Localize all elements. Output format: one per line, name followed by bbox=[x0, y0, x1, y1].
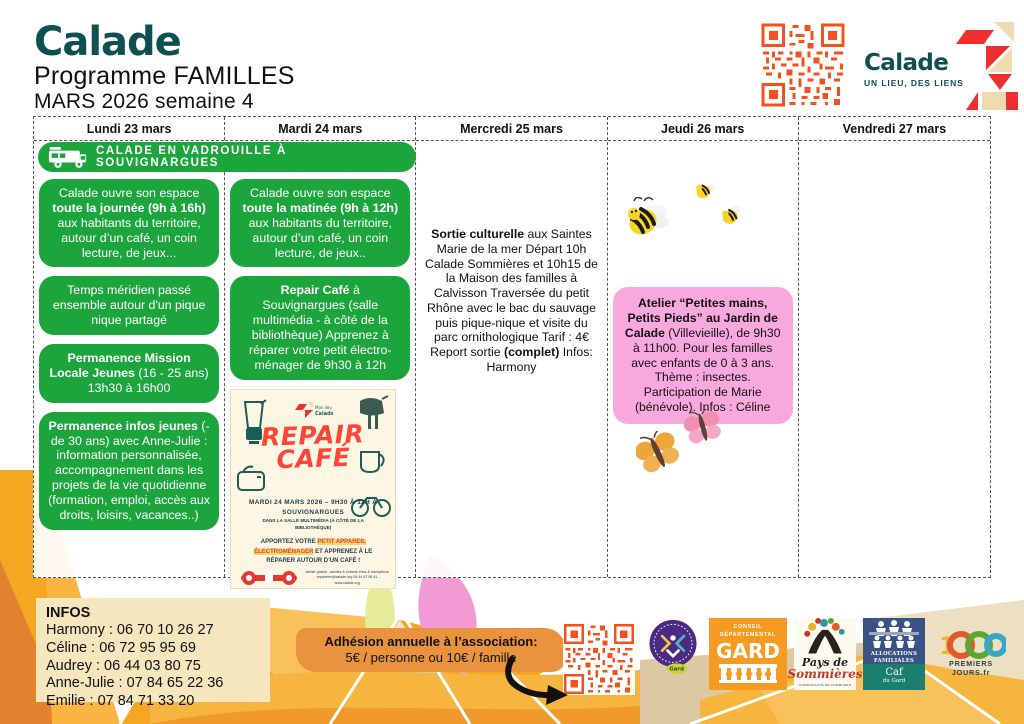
column-jeudi: Jeudi 26 mars bbox=[608, 117, 799, 577]
event-pill[interactable]: Temps méridien passé ensemble autour d'u… bbox=[39, 276, 219, 335]
tangram-mark-icon bbox=[948, 22, 1020, 114]
calade-logo: Calade UN LIEU, DES LIENS bbox=[864, 30, 1014, 108]
event-pill[interactable]: Calade ouvre son espace toute la matinée… bbox=[230, 179, 410, 267]
contact-line: Anne-Julie : 07 84 65 22 36 bbox=[46, 675, 260, 693]
caf-top-label: ALLOCATIONS FAMILIALES bbox=[863, 651, 925, 664]
program-title: Programme FAMILLES bbox=[34, 62, 295, 90]
pill-text: Temps méridien passé ensemble autour d'u… bbox=[53, 283, 206, 327]
column-header-jeudi: Jeudi 26 mars bbox=[608, 117, 798, 141]
camper-van-icon bbox=[48, 145, 88, 169]
event-pill[interactable]: Repair Café à Souvignargues (salle multi… bbox=[230, 276, 410, 379]
poster-when: MARDI 24 MARS 2026 – 9H30 À 12H À SOUVIG… bbox=[239, 498, 387, 517]
event-pill[interactable]: Permanence infos jeunes (- de 30 ans) av… bbox=[39, 412, 219, 530]
butterfly-icon bbox=[636, 431, 682, 475]
column-header-mercredi: Mercredi 25 mars bbox=[416, 117, 606, 141]
conseil-departemental-gard-logo: CONSEIL DÉPARTEMENTAL GARD bbox=[709, 618, 787, 690]
svg-text:Mon lieu: Mon lieu bbox=[315, 405, 332, 410]
pays-de-sommieres-logo: Pays de Sommières COMMUNAUTÉ DE COMMUNES bbox=[794, 618, 856, 690]
column-lundi: Lundi 23 mars Calade ouvre son espace to… bbox=[34, 117, 225, 577]
contact-line: Emilie : 07 84 71 33 20 bbox=[46, 693, 260, 711]
pill-text: Calade ouvre son espace toute la matinée… bbox=[242, 186, 398, 260]
column-body-mercredi: Sortie culturelle aux Saintes Marie de l… bbox=[416, 141, 606, 375]
column-header-mardi: Mardi 24 mars bbox=[225, 117, 415, 141]
repair-cafe-poster[interactable]: Mon lieu Calade REPAIR CAFÉ MARDI 24 MAR… bbox=[230, 389, 396, 589]
mille-premiers-jours-logo: 1 PREMIERS JOURS.fr bbox=[932, 618, 1010, 690]
poster-body: APPORTEZ VOTRE PETIT APPAREIL ÉLECTROMÉN… bbox=[239, 538, 387, 567]
svg-text:Gard: Gard bbox=[669, 667, 684, 673]
calade-mark-icon: Mon lieu Calade bbox=[293, 402, 333, 418]
column-body-jeudi: Atelier “Petites mains, Petits Pieds” au… bbox=[608, 141, 798, 424]
poster-info: Atelier gratuit - adultes & enfants Info… bbox=[305, 570, 389, 586]
adhesion-title: Adhésion annuelle à l’association: bbox=[296, 634, 566, 650]
column-header-lundi: Lundi 23 mars bbox=[34, 117, 224, 141]
vadrouille-banner[interactable]: CALADE EN VADROUILLE À SOUVIGNARGUES bbox=[38, 142, 416, 172]
pays-line3: COMMUNAUTÉ DE COMMUNES bbox=[799, 683, 851, 687]
caf-du-gard-logo: ALLOCATIONS FAMILIALES Caf du Gard bbox=[863, 618, 925, 690]
poster-body-pre: APPORTEZ VOTRE bbox=[261, 539, 318, 545]
pays-line2: Sommières bbox=[788, 668, 863, 681]
event-pill-pink[interactable]: Atelier “Petites mains, Petits Pieds” au… bbox=[613, 287, 793, 424]
qr-code-adhesion[interactable] bbox=[563, 623, 635, 695]
page-header: Calade Programme FAMILLES MARS 2026 sema… bbox=[34, 22, 295, 115]
convention-territoriale-logo: Gard bbox=[644, 618, 702, 676]
column-vendredi: Vendredi 27 mars bbox=[799, 117, 990, 577]
pill-text: Calade ouvre son espace toute la journée… bbox=[52, 186, 206, 260]
pont-du-gard-icon bbox=[717, 662, 779, 684]
brand-title: Calade bbox=[34, 22, 295, 62]
mille-line2: JOURS.fr bbox=[952, 668, 990, 677]
mille-line1: PREMIERS bbox=[949, 659, 993, 668]
poster-body-highlight-2: ÉLECTROMÉNAGER bbox=[254, 549, 313, 555]
bee-icon bbox=[720, 203, 746, 229]
infos-title: INFOS bbox=[46, 604, 260, 622]
event-title: Sortie culturelle bbox=[431, 227, 524, 241]
butterfly-icon bbox=[684, 409, 724, 447]
event-status: (complet) bbox=[504, 345, 559, 359]
event-pill[interactable]: Permanence Mission Locale Jeunes (16 - 2… bbox=[39, 344, 219, 403]
contact-line: Céline : 06 72 95 95 69 bbox=[46, 640, 260, 658]
caf-region: du Gard bbox=[883, 678, 906, 686]
pill-title: Repair Café bbox=[281, 283, 350, 297]
poster-title: REPAIR CAFÉ bbox=[230, 421, 396, 473]
column-mercredi: Mercredi 25 mars Sortie culturelle aux S… bbox=[416, 117, 607, 577]
weekly-schedule-grid: Lundi 23 mars Calade ouvre son espace to… bbox=[33, 116, 991, 578]
column-header-vendredi: Vendredi 27 mars bbox=[799, 117, 990, 141]
infos-box: INFOS Harmony : 06 70 10 26 27 Céline : … bbox=[36, 598, 270, 702]
contact-line: Audrey : 06 44 03 80 75 bbox=[46, 658, 260, 676]
bee-icon bbox=[624, 197, 672, 243]
column-body-mardi: Calade ouvre son espace toute la matinée… bbox=[225, 141, 415, 380]
curved-arrow-icon bbox=[500, 655, 570, 707]
vadrouille-label: CALADE EN VADROUILLE À SOUVIGNARGUES bbox=[96, 145, 406, 169]
poster-body-highlight-1: PETIT APPAREIL bbox=[317, 539, 365, 545]
qr-code-top[interactable] bbox=[760, 22, 846, 108]
event-text-block[interactable]: Sortie culturelle aux Saintes Marie de l… bbox=[421, 227, 601, 375]
column-body-lundi: Calade ouvre son espace toute la journée… bbox=[34, 141, 224, 530]
thousand-number-icon: 1 bbox=[936, 631, 1006, 659]
event-pill[interactable]: Calade ouvre son espace toute la journée… bbox=[39, 179, 219, 267]
column-mardi: Mardi 24 mars Calade ouvre son espace to… bbox=[225, 117, 416, 577]
caf-name: Caf bbox=[885, 668, 902, 678]
bee-icon bbox=[694, 179, 718, 203]
gard-name: GARD bbox=[716, 640, 780, 662]
event-body: aux Saintes Marie de la mer Départ 10h C… bbox=[425, 227, 598, 359]
tree-icon bbox=[800, 618, 850, 657]
svg-text:Calade: Calade bbox=[315, 411, 333, 417]
pill-text: (- de 30 ans) avec Anne-Julie : informat… bbox=[48, 419, 210, 522]
partner-logos: Gard CONSEIL DÉPARTEMENTAL GARD bbox=[644, 618, 1010, 690]
poster-page: Calade Programme FAMILLES MARS 2026 sema… bbox=[0, 0, 1024, 724]
column-body-vendredi bbox=[799, 141, 990, 147]
contact-line: Harmony : 06 70 10 26 27 bbox=[46, 622, 260, 640]
gard-top-label: CONSEIL DÉPARTEMENTAL bbox=[709, 624, 787, 640]
period-subtitle: MARS 2026 semaine 4 bbox=[34, 90, 295, 115]
tools-icon bbox=[239, 568, 299, 588]
poster-where: DANS LA SALLE MULTIMÉDIA (À CÔTÉ DE LA B… bbox=[245, 518, 381, 532]
pill-title: Permanence infos jeunes bbox=[49, 419, 198, 433]
family-group-icon bbox=[869, 619, 919, 649]
